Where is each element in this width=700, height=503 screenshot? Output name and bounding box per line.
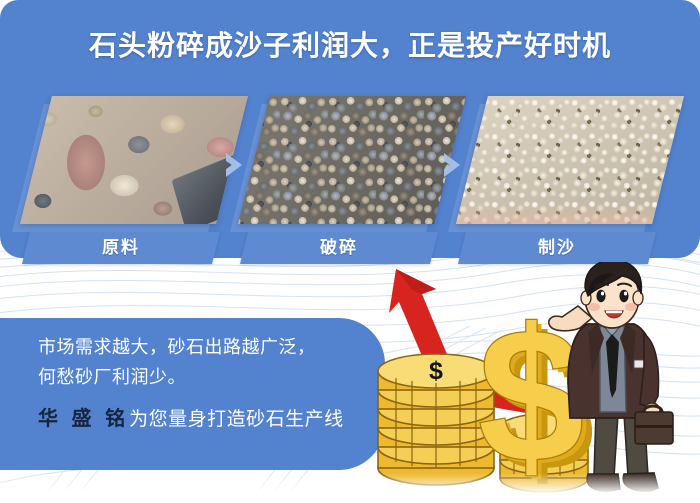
stage-label-raw-material: 原料	[22, 232, 220, 264]
stage-label-text: 制沙	[462, 232, 652, 264]
dollar-sign-icon: $	[429, 357, 443, 385]
stage-label-text: 破碎	[244, 232, 434, 264]
brand-name: 华 盛 铭	[38, 408, 129, 430]
promo-banner: 石头粉碎成沙子利润大，正是投产好时机	[0, 0, 700, 503]
copy-line-1: 市场需求越大，砂石出路越广泛，	[38, 332, 398, 362]
page-title: 石头粉碎成沙子利润大，正是投产好时机	[0, 24, 700, 64]
gold-coin-stack-icon: $	[378, 354, 494, 485]
hand-holding-sand	[456, 204, 684, 224]
brand-tagline: 为您量身打造砂石生产线	[129, 409, 344, 430]
stage-label-crushing: 破碎	[240, 232, 438, 264]
pebbles-photo	[20, 96, 248, 224]
briefcase-icon	[635, 406, 673, 444]
process-card-crushing	[254, 96, 450, 224]
brand-line: 华 盛 铭为您量身打造砂石生产线	[38, 404, 398, 435]
copy-block: 市场需求越大，砂石出路越广泛， 何愁砂厂利润少。 华 盛 铭为您量身打造砂石生产…	[38, 332, 398, 435]
process-card-sand-making	[472, 96, 668, 224]
stage-label-sand-making: 制沙	[458, 232, 656, 264]
copy-line-2: 何愁砂厂利润少。	[38, 362, 398, 392]
stage-label-text: 原料	[26, 232, 216, 264]
process-card-raw-material	[36, 96, 232, 224]
profit-illustration: $ $ $	[356, 262, 700, 503]
sand-photo	[456, 96, 684, 224]
gravel-photo	[238, 96, 466, 224]
